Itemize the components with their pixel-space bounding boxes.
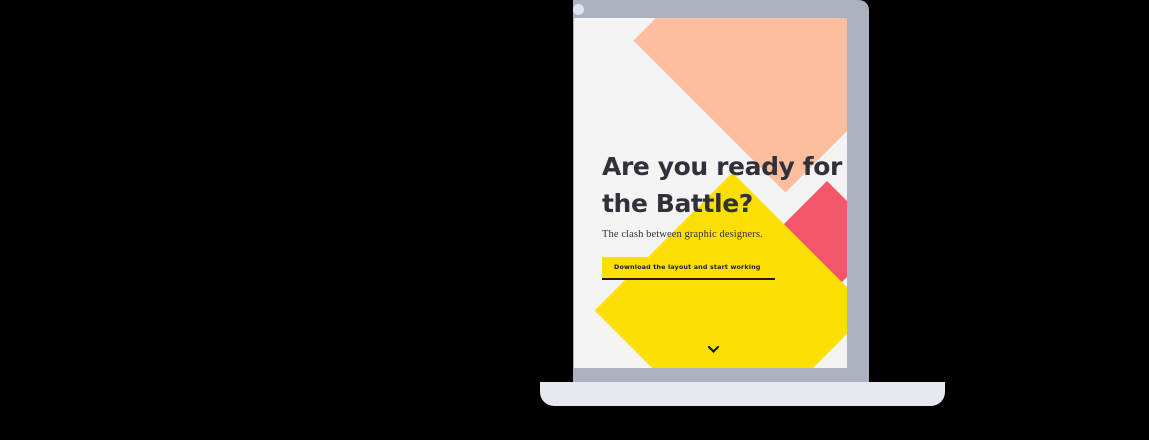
scroll-down-cue[interactable] [707, 343, 719, 355]
laptop-screen: Are you ready for the Battle? The clash … [574, 18, 847, 368]
chevron-down-icon [708, 346, 719, 353]
webcam-icon [573, 4, 584, 15]
laptop-lid-bottom-bar [573, 368, 869, 382]
hero-subtitle: The clash between graphic designers. [602, 228, 847, 242]
laptop-mockup: Are you ready for the Battle? The clash … [573, 0, 869, 410]
screenshot-stage: Are you ready for the Battle? The clash … [0, 0, 1149, 440]
laptop-base [540, 382, 945, 406]
cta-wrapper: Download the layout and start working [602, 256, 775, 280]
download-layout-button[interactable]: Download the layout and start working [602, 257, 775, 280]
page-title: Are you ready for the Battle? [602, 148, 847, 222]
hero-content: Are you ready for the Battle? The clash … [602, 148, 847, 280]
